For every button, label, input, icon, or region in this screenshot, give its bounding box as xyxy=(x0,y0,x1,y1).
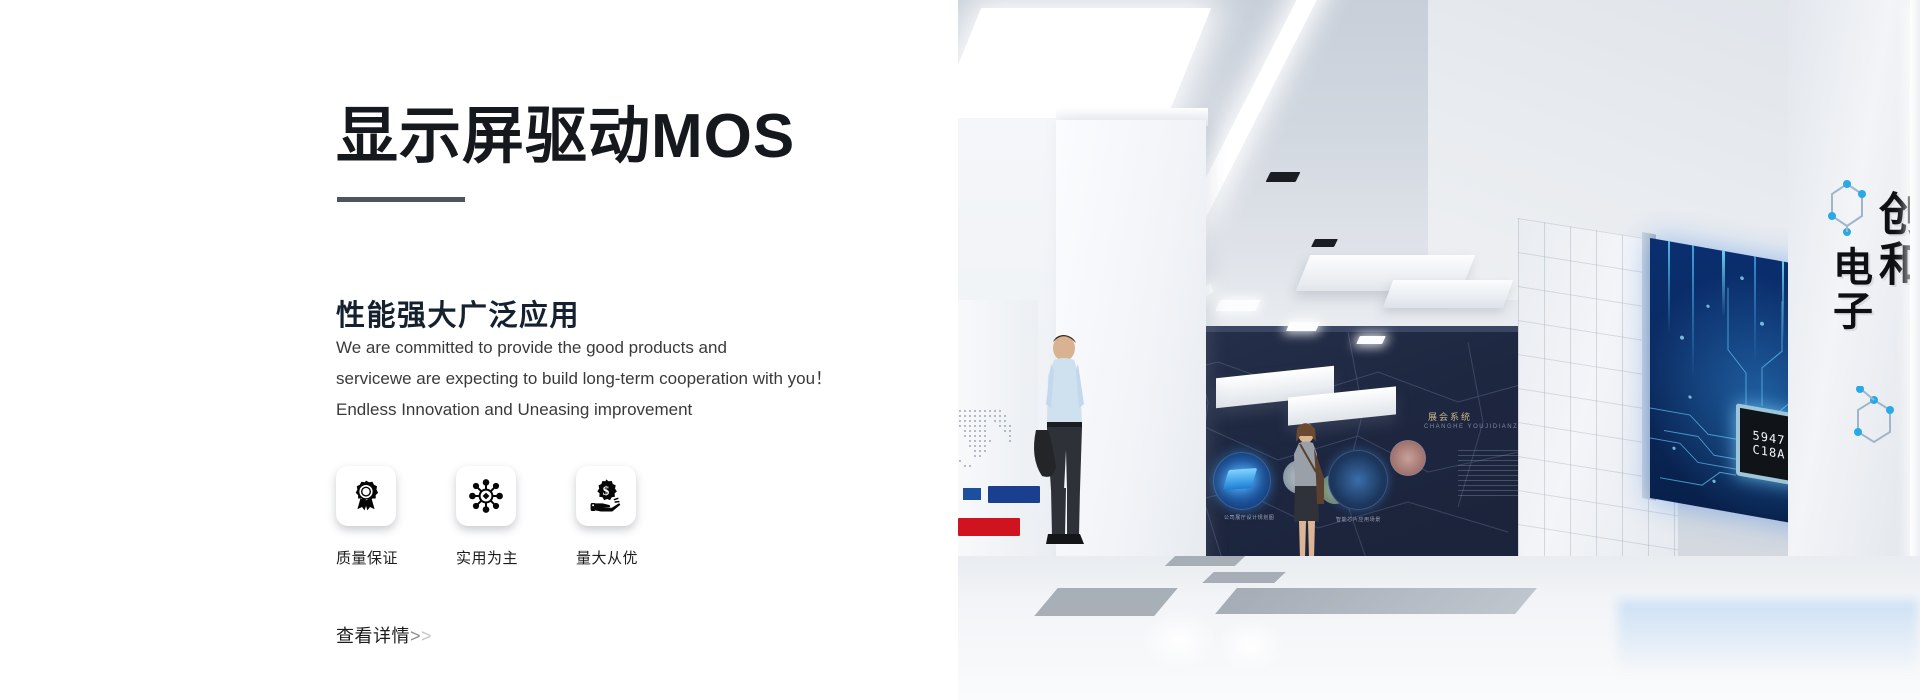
floor-inset-band xyxy=(1202,572,1285,583)
svg-text:$: $ xyxy=(603,483,610,498)
page-title: 显示屏驱动MOS xyxy=(336,104,795,169)
feature-tile[interactable] xyxy=(336,466,396,526)
network-hub-icon xyxy=(468,478,504,514)
feature-item-quality[interactable]: 质量保证 xyxy=(336,466,456,568)
description-line-2: servicewe are expecting to build long-te… xyxy=(336,363,896,394)
brand-wall-text-left: 电子 xyxy=(1820,246,1878,334)
award-badge-icon xyxy=(348,478,384,514)
view-details-label: 查看详情 xyxy=(336,626,410,646)
exhibit-medallion-chip xyxy=(1213,452,1271,510)
feature-label: 质量保证 xyxy=(336,547,456,568)
wall-plaque-red xyxy=(958,518,1020,536)
person-woman-visitor xyxy=(1276,420,1336,570)
floor-light-reflection xyxy=(1216,618,1286,673)
title-divider xyxy=(337,197,465,202)
feature-label: 量大从优 xyxy=(576,547,696,568)
exhibit-caption: 智能芯片应用场景 xyxy=(1336,516,1381,523)
hero-text-panel: 显示屏驱动MOS 性能强大广泛应用 We are committed to pr… xyxy=(0,0,958,700)
chevron-right-icon: > xyxy=(410,626,421,646)
floor-inset-band xyxy=(1034,588,1177,616)
hero-banner: 展会系统 CHANGHE YOUJIDIANZI 公司展厅设计规划图 智能芯片应… xyxy=(0,0,1920,700)
glowing-chip-icon xyxy=(1223,468,1258,490)
feature-tile[interactable]: $ xyxy=(576,466,636,526)
showroom-photo: 展会系统 CHANGHE YOUJIDIANZI 公司展厅设计规划图 智能芯片应… xyxy=(958,0,1920,700)
hand-holding-coin-icon: $ xyxy=(588,478,624,514)
floor-inset-band xyxy=(1165,556,1245,566)
feature-item-volume-discount[interactable]: $ 量大从优 xyxy=(576,466,696,568)
ceiling-panel-light xyxy=(1216,300,1261,311)
ceiling-spot-icon xyxy=(1311,239,1338,247)
description-line-1: We are committed to provide the good pro… xyxy=(336,332,896,363)
floor-light-reflection xyxy=(1140,610,1218,670)
feature-tile[interactable] xyxy=(456,466,516,526)
exhibit-wall-copy-block xyxy=(1458,450,1520,498)
feature-item-practical[interactable]: 实用为主 xyxy=(456,466,576,568)
feature-list: 质量保证 xyxy=(336,466,696,568)
exhibit-wall-title: 展会系统 xyxy=(1428,410,1472,423)
ceiling-spot-icon xyxy=(1266,172,1301,182)
chevron-right-icon: > xyxy=(421,626,432,646)
exhibit-caption: 公司展厅设计规划图 xyxy=(1224,514,1274,521)
wall-plaque-small xyxy=(963,488,981,500)
ceiling-panel-light xyxy=(1286,322,1320,331)
ceiling-panel-light xyxy=(1356,336,1386,344)
floor-inset-band xyxy=(1215,588,1537,614)
ceiling-soffit xyxy=(1383,280,1513,308)
exhibit-wall-subtitle: CHANGHE YOUJIDIANZI xyxy=(1424,424,1521,430)
feature-label: 实用为主 xyxy=(456,547,576,568)
screen-floor-reflection xyxy=(1618,600,1918,700)
hex-molecule-icon xyxy=(1824,176,1870,242)
view-details-link[interactable]: 查看详情>> xyxy=(336,622,432,648)
exhibit-medallion xyxy=(1390,440,1426,476)
person-man-visitor xyxy=(1020,330,1112,560)
exhibit-medallion xyxy=(1328,450,1388,510)
hex-molecule-icon xyxy=(1848,386,1900,460)
description-line-3: Endless Innovation and Uneasing improvem… xyxy=(336,394,896,425)
description-paragraph: We are committed to provide the good pro… xyxy=(336,332,896,425)
subtitle: 性能强大广泛应用 xyxy=(336,292,580,334)
